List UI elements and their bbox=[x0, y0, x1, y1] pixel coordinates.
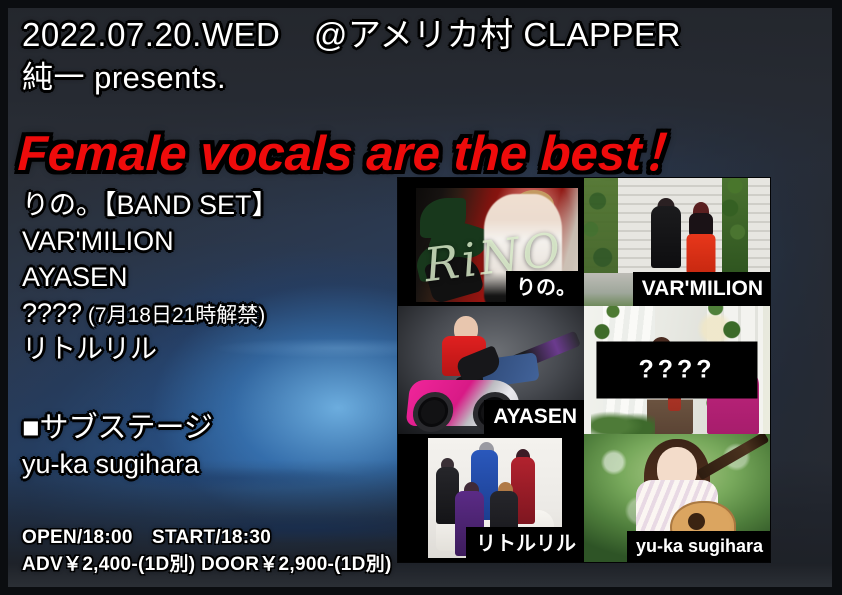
plant-shape bbox=[591, 406, 654, 434]
ticket-info: OPEN/18:00 START/18:30 ADV￥2,400-(1D別) D… bbox=[22, 524, 392, 579]
lineup-name-2: AYASEN bbox=[22, 262, 128, 292]
lineup-note-3: (7月18日21時解禁) bbox=[82, 304, 265, 327]
event-title: Female vocals are the best！ bbox=[17, 114, 692, 185]
lineup-item-1: VAR'MILION bbox=[22, 224, 279, 260]
door-times: OPEN/18:00 START/18:30 bbox=[22, 524, 392, 552]
concert-flyer: 2022.07.20.WED @アメリカ村 CLAPPER 純一 present… bbox=[0, 0, 842, 595]
wheel-shape bbox=[411, 392, 455, 432]
substage-heading: ■サブステージ bbox=[22, 410, 213, 446]
substage-block: ■サブステージ yu-ka sugihara bbox=[22, 410, 213, 482]
body-shape bbox=[651, 206, 681, 268]
photo-caption-yuka: yu-ka sugihara bbox=[627, 531, 770, 562]
red-pants-shape bbox=[687, 234, 716, 274]
lineup-list: りの。【BAND SET】 VAR'MILION AYASEN ???? (7月… bbox=[22, 188, 279, 368]
lineup-item-4: リトルリル bbox=[22, 332, 279, 368]
lineup-name-1: VAR'MILION bbox=[22, 226, 174, 256]
photo-cell-rino: RiNO りの。 bbox=[398, 178, 584, 306]
header-block: 2022.07.20.WED @アメリカ村 CLAPPER 純一 present… bbox=[22, 16, 681, 98]
flyer-border-right bbox=[832, 0, 842, 595]
photo-cell-littleril: リトルリル bbox=[398, 434, 584, 562]
lineup-name-0: りの。【BAND SET】 bbox=[22, 190, 279, 220]
lineup-item-3: ???? (7月18日21時解禁) bbox=[22, 296, 279, 332]
photo-caption-littleril: リトルリル bbox=[466, 527, 584, 562]
photo-cell-ayasen: AYASEN bbox=[398, 306, 584, 434]
event-presenter: 純一 presents. bbox=[22, 59, 681, 98]
photo-cell-yuka: yu-ka sugihara bbox=[584, 434, 770, 562]
photo-caption-varmilion: VAR'MILION bbox=[633, 272, 770, 306]
photo-cell-varmilion: VAR'MILION bbox=[584, 178, 770, 306]
lineup-name-3: ???? bbox=[22, 298, 82, 328]
photo-caption-rino: りの。 bbox=[506, 271, 584, 306]
ivy-shape bbox=[722, 178, 748, 274]
event-date-venue: 2022.07.20.WED @アメリカ村 CLAPPER bbox=[22, 16, 681, 55]
substage-artist: yu-ka sugihara bbox=[22, 447, 213, 482]
lineup-item-0: りの。【BAND SET】 bbox=[22, 188, 279, 224]
photo-cell-unknown: ???? bbox=[584, 306, 770, 434]
lineup-name-4: リトルリル bbox=[22, 334, 157, 364]
lineup-item-2: AYASEN bbox=[22, 260, 279, 296]
photo-caption-unknown: ???? bbox=[596, 342, 757, 399]
ticket-prices: ADV￥2,400-(1D別) DOOR￥2,900-(1D別) bbox=[22, 551, 392, 579]
guitar-neck-shape bbox=[697, 434, 770, 480]
artist-photo-grid: RiNO りの。 VAR'MILION bbox=[398, 178, 770, 562]
photo-caption-ayasen: AYASEN bbox=[484, 400, 584, 434]
